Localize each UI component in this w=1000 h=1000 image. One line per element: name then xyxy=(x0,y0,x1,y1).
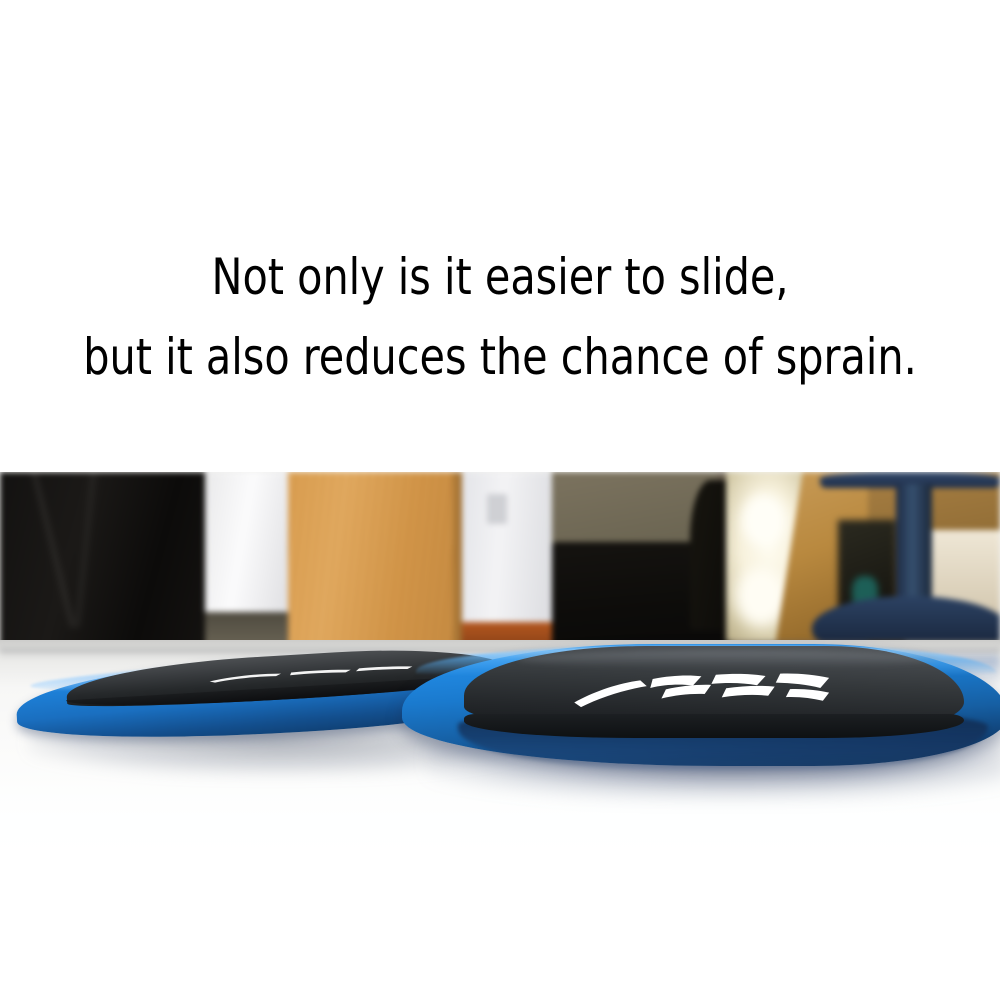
text-block: The product has a curved arc Not only is… xyxy=(0,0,1000,472)
right-board-pad-edge xyxy=(464,714,964,738)
page-title: The product has a curved arc xyxy=(35,128,965,200)
marketing-image-page: The product has a curved arc Not only is… xyxy=(0,0,1000,1000)
sliding-board-right xyxy=(398,640,1000,800)
background-white-wall-right xyxy=(462,472,557,642)
background-white-wall-panel xyxy=(205,472,290,619)
window-highlight xyxy=(742,494,786,546)
product-photo xyxy=(0,472,1000,858)
subheadline-line-1: Not only is it easier to slide, xyxy=(40,248,960,306)
subheadline-line-2: but it also reduces the chance of sprain… xyxy=(40,328,960,386)
background-dark-drape xyxy=(0,472,215,651)
table-pedestal-column xyxy=(896,484,932,609)
wood-grain-texture xyxy=(288,472,460,652)
photo-background-room xyxy=(0,472,1000,662)
wall-outlet xyxy=(487,494,507,524)
right-board-pad-highlight xyxy=(518,650,938,668)
